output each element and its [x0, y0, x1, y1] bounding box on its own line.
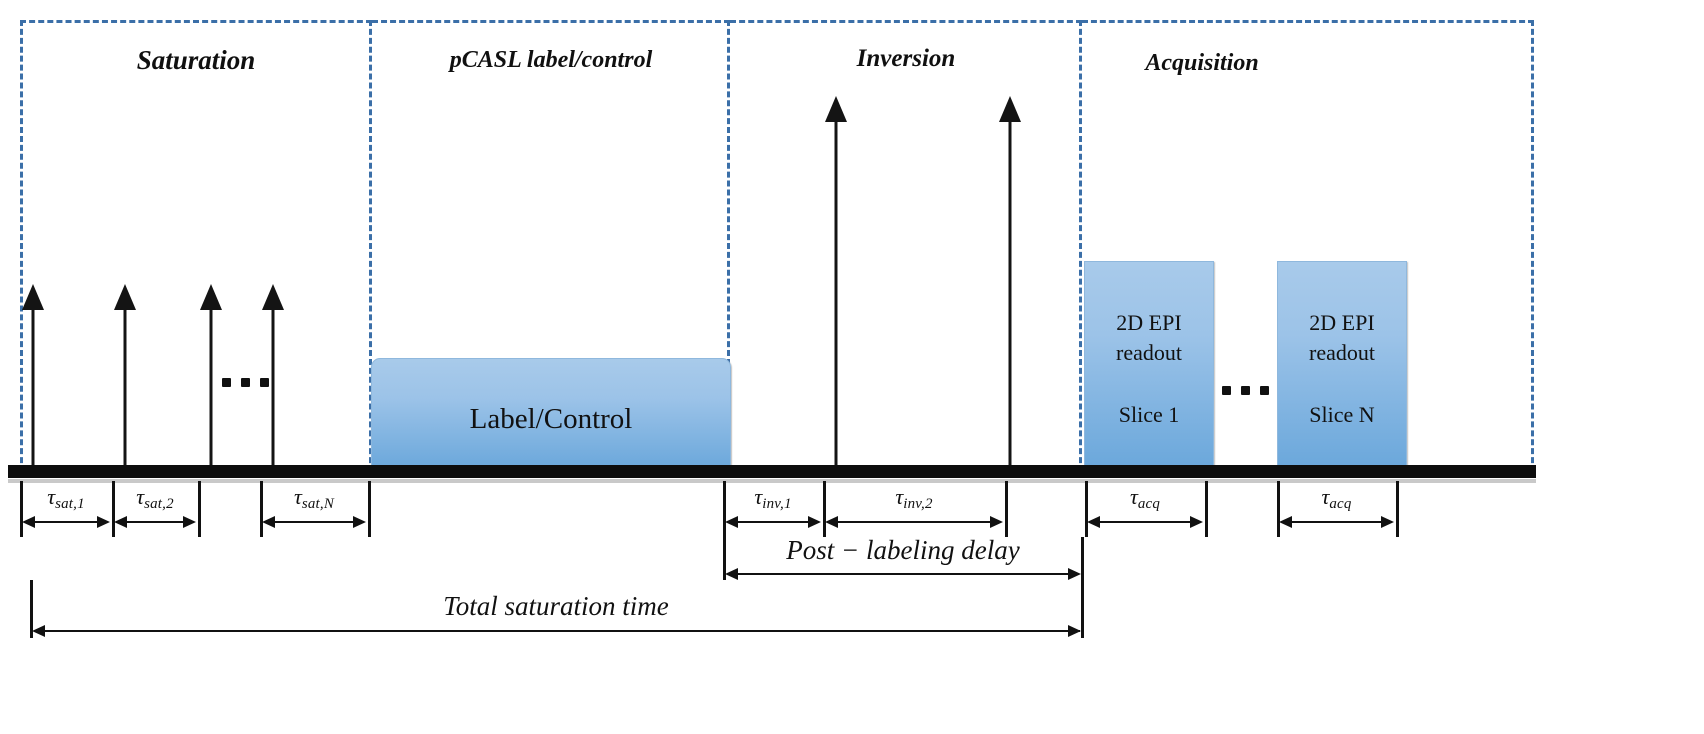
tau-symbol: τ [47, 484, 55, 509]
rf-pulse-sat-3 [198, 284, 224, 470]
tau-subscript: sat,N [302, 496, 334, 512]
interval-line-tau-inv-1 [727, 521, 819, 523]
ellipsis-dot [1260, 386, 1269, 395]
tick-acq-b [1205, 481, 1208, 537]
tau-subscript: inv,1 [762, 496, 791, 512]
interval-line-tau-sat-n [264, 521, 364, 523]
arrowhead-icon [1068, 568, 1081, 580]
label-control-block: Label/Control [371, 358, 731, 471]
saturation-ellipsis [222, 378, 269, 387]
interval-line-tau-sat-1 [24, 521, 108, 523]
epi-line-2: readout [1278, 340, 1406, 366]
ellipsis-dot [1222, 386, 1231, 395]
interval-label-tau-sat-n: τsat,N [260, 484, 368, 513]
arrowhead-icon [22, 516, 35, 528]
arrowhead-icon [725, 516, 738, 528]
interval-line-tau-inv-2 [827, 521, 1001, 523]
interval-line-tau-acq-2 [1281, 521, 1392, 523]
epi-readout-block-1: 2D EPI readout Slice 1 [1084, 261, 1214, 471]
section-title-inversion: Inversion [730, 45, 1082, 73]
tau-subscript: inv,2 [903, 496, 932, 512]
interval-label-tau-acq-2: τacq [1277, 484, 1396, 513]
arrowhead-icon [725, 568, 738, 580]
interval-label-tau-inv-1: τinv,1 [723, 484, 823, 513]
ellipsis-dot [1241, 386, 1250, 395]
rf-pulse-sat-2 [112, 284, 138, 470]
tick-inv-c [1005, 481, 1008, 537]
tick-sat-e [368, 481, 371, 537]
span-line-post-labeling-delay [727, 573, 1079, 575]
rf-pulse-inv-1 [823, 96, 849, 470]
tick-sat-c [198, 481, 201, 537]
arrowhead-icon [825, 516, 838, 528]
arrowhead-icon [1068, 625, 1081, 637]
tau-subscript: sat,2 [144, 496, 174, 512]
pulse-sequence-diagram: Saturation pCASL label/control Inversion… [0, 0, 1704, 734]
arrowhead-icon [1279, 516, 1292, 528]
tick-acq-d [1396, 481, 1399, 537]
epi-line-2: readout [1085, 340, 1213, 366]
arrowhead-icon [808, 516, 821, 528]
interval-label-tau-sat-1: τsat,1 [20, 484, 112, 513]
arrowhead-icon [1087, 516, 1100, 528]
acquisition-ellipsis [1222, 386, 1269, 395]
tau-symbol: τ [136, 484, 144, 509]
section-box-saturation [20, 20, 372, 472]
arrowhead-icon [1381, 516, 1394, 528]
arrowhead-icon [97, 516, 110, 528]
baseline-shadow [8, 479, 1536, 483]
arrowhead-icon [262, 516, 275, 528]
arrowhead-icon [183, 516, 196, 528]
epi-line-3: Slice 1 [1085, 402, 1213, 428]
span-line-total-saturation-time [34, 630, 1080, 632]
epi-readout-block-2: 2D EPI readout Slice N [1277, 261, 1407, 471]
tau-subscript: acq [1329, 496, 1351, 512]
tau-subscript: sat,1 [55, 496, 85, 512]
interval-label-tau-sat-2: τsat,2 [112, 484, 198, 513]
section-title-saturation: Saturation [20, 45, 372, 76]
section-box-inversion [730, 20, 1082, 472]
epi-line-1: 2D EPI [1085, 310, 1213, 336]
interval-label-tau-acq-1: τacq [1085, 484, 1205, 513]
timeline-baseline [8, 465, 1536, 478]
rf-pulse-sat-n [260, 284, 286, 470]
ellipsis-dot [260, 378, 269, 387]
arrowhead-icon [32, 625, 45, 637]
epi-line-1: 2D EPI [1278, 310, 1406, 336]
epi-line-3: Slice N [1278, 402, 1406, 428]
span-label-total-saturation-time: Total saturation time [30, 591, 1082, 622]
rf-pulse-sat-1 [20, 284, 46, 470]
section-title-pcasl: pCASL label/control [372, 47, 730, 74]
arrowhead-icon [114, 516, 127, 528]
ellipsis-dot [241, 378, 250, 387]
interval-label-tau-inv-2: τinv,2 [823, 484, 1005, 513]
ellipsis-dot [222, 378, 231, 387]
tau-subscript: acq [1138, 496, 1160, 512]
arrowhead-icon [1190, 516, 1203, 528]
interval-line-tau-acq-1 [1089, 521, 1201, 523]
label-control-text: Label/Control [372, 403, 730, 436]
span-label-post-labeling-delay: Post − labeling delay [723, 535, 1083, 566]
rf-pulse-inv-2 [997, 96, 1023, 470]
arrowhead-icon [990, 516, 1003, 528]
arrowhead-icon [353, 516, 366, 528]
tau-symbol: τ [1130, 484, 1138, 509]
section-title-acquisition: Acquisition [1082, 50, 1322, 77]
tau-symbol: τ [294, 484, 302, 509]
